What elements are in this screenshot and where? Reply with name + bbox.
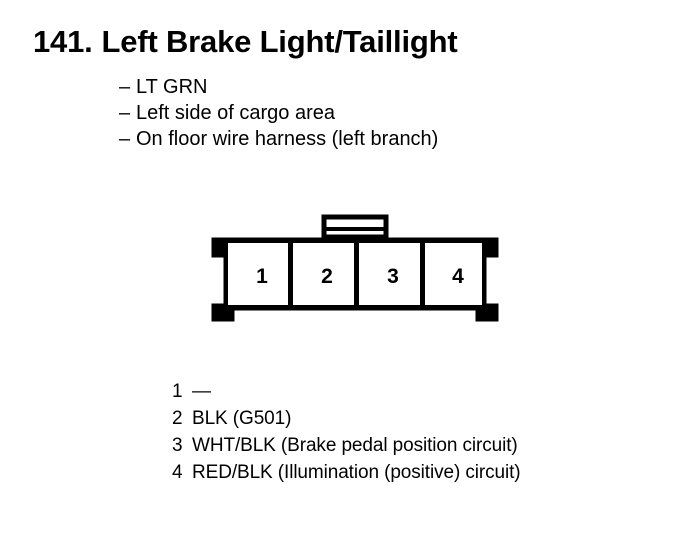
list-item: – On floor wire harness (left branch) (119, 126, 438, 152)
legend-pin-description: — (192, 378, 211, 405)
legend-pin-description: RED/BLK (Illumination (positive) circuit… (192, 459, 521, 486)
page-title-number: 141. (33, 24, 93, 59)
cavity-4-label: 4 (452, 265, 464, 288)
list-item-label: Left side of cargo area (136, 100, 335, 126)
legend-pin-number: 2 (172, 405, 192, 432)
legend-pin-number: 3 (172, 432, 192, 459)
legend-pin-description: BLK (G501) (192, 405, 291, 432)
connector-svg: 1 2 3 4 (200, 205, 510, 330)
dash-icon: – (119, 100, 136, 126)
page-title: 141.Left Brake Light/Taillight (33, 24, 457, 60)
dash-icon: – (119, 126, 136, 152)
list-item: – Left side of cargo area (119, 100, 438, 126)
connector-diagram: 1 2 3 4 (200, 205, 510, 335)
legend-pin-description: WHT/BLK (Brake pedal position circuit) (192, 432, 518, 459)
page-title-text: Left Brake Light/Taillight (102, 24, 458, 59)
cavity-1-label: 1 (256, 265, 268, 288)
legend-row: 4 RED/BLK (Illumination (positive) circu… (172, 459, 521, 486)
legend-pin-number: 1 (172, 378, 192, 405)
legend-pin-number: 4 (172, 459, 192, 486)
cavity-2-label: 2 (321, 265, 333, 288)
description-list: – LT GRN – Left side of cargo area – On … (119, 74, 438, 152)
list-item: – LT GRN (119, 74, 438, 100)
legend-row: 1 — (172, 378, 521, 405)
locking-tab-icon (324, 217, 386, 237)
list-item-label: LT GRN (136, 74, 208, 100)
legend-row: 3 WHT/BLK (Brake pedal position circuit) (172, 432, 521, 459)
list-item-label: On floor wire harness (left branch) (136, 126, 438, 152)
cavity-3-label: 3 (387, 265, 399, 288)
dash-icon: – (119, 74, 136, 100)
legend-row: 2 BLK (G501) (172, 405, 521, 432)
pin-legend: 1 — 2 BLK (G501) 3 WHT/BLK (Brake pedal … (172, 378, 521, 486)
